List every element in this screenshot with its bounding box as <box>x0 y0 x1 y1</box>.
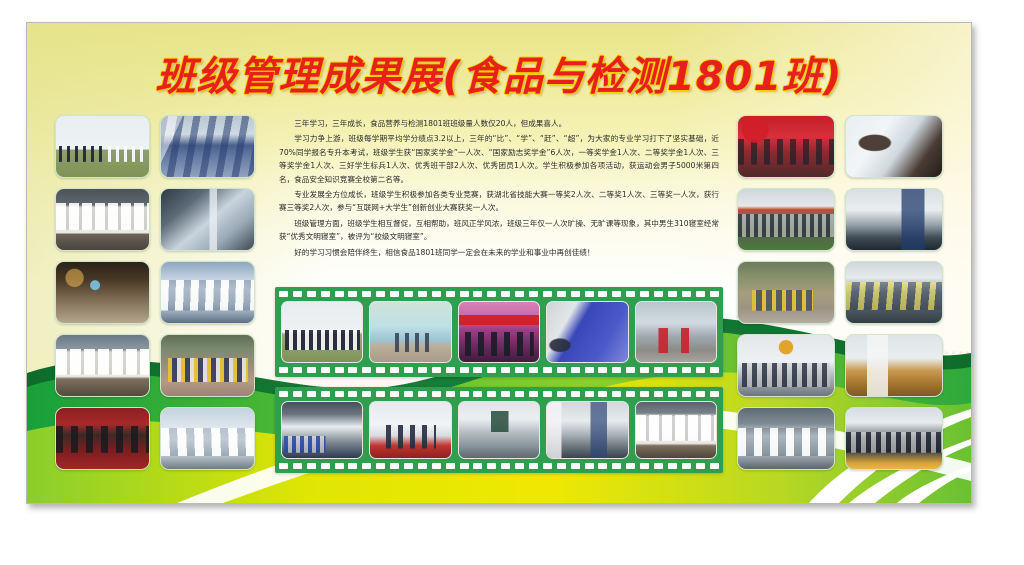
sprocket-hole <box>376 291 385 297</box>
sprocket-hole <box>335 463 344 469</box>
sprocket-hole <box>487 291 496 297</box>
sprocket-hole <box>515 391 524 397</box>
photo-row <box>737 261 943 324</box>
sprocket-hole <box>460 291 469 297</box>
paragraph: 三年学习，三年成长，食品营养与检测1801班班级量人数仅20人，但成果喜人。 <box>279 117 719 130</box>
sprocket-hole <box>404 463 413 469</box>
sprocket-hole <box>307 291 316 297</box>
sprocket-hole <box>362 463 371 469</box>
sprocket-hole <box>487 367 496 373</box>
photo-row <box>55 334 255 397</box>
sprocket-hole <box>668 463 677 469</box>
sprocket-hole <box>640 367 649 373</box>
sprocket-hole <box>640 391 649 397</box>
sprocket-hole <box>279 367 288 373</box>
sprocket-hole <box>598 391 607 397</box>
right-photo-grid <box>737 115 943 470</box>
photo-ft-1[interactable] <box>281 301 363 363</box>
photo-row <box>55 261 255 324</box>
sprocket-hole <box>293 391 302 397</box>
sprocket-hole <box>710 463 719 469</box>
sprocket-hole <box>585 291 594 297</box>
sprocket-hole <box>501 367 510 373</box>
photo-rp-7[interactable] <box>737 334 835 397</box>
left-photo-grid <box>55 115 255 470</box>
photo-lp-9[interactable] <box>55 407 150 470</box>
sprocket-hole <box>585 463 594 469</box>
sprocket-hole <box>571 463 580 469</box>
sprocket-hole <box>279 463 288 469</box>
sprocket-holes-bottom <box>279 367 719 373</box>
photo-lp-3[interactable] <box>55 188 150 251</box>
sprocket-hole <box>612 391 621 397</box>
sprocket-hole <box>626 367 635 373</box>
sprocket-hole <box>668 391 677 397</box>
sprocket-hole <box>418 367 427 373</box>
sprocket-hole <box>432 367 441 373</box>
page-title: 班级管理成果展(食品与检测1801班) <box>27 53 971 101</box>
photo-lp-7[interactable] <box>55 334 150 397</box>
photo-row <box>737 334 943 397</box>
sprocket-hole <box>460 367 469 373</box>
sprocket-hole <box>473 391 482 397</box>
sprocket-hole <box>376 391 385 397</box>
photo-rp-2[interactable] <box>845 115 943 178</box>
sprocket-hole <box>710 291 719 297</box>
sprocket-hole <box>543 291 552 297</box>
sprocket-hole <box>460 463 469 469</box>
photo-rp-3[interactable] <box>737 188 835 251</box>
sprocket-hole <box>321 367 330 373</box>
sprocket-hole <box>293 463 302 469</box>
sprocket-hole <box>418 463 427 469</box>
photo-lp-4[interactable] <box>160 188 255 251</box>
sprocket-hole <box>473 367 482 373</box>
sprocket-hole <box>321 291 330 297</box>
sprocket-hole <box>487 463 496 469</box>
sprocket-hole <box>348 291 357 297</box>
filmstrip-top <box>275 287 723 377</box>
sprocket-hole <box>404 291 413 297</box>
sprocket-hole <box>598 291 607 297</box>
sprocket-hole <box>598 463 607 469</box>
sprocket-hole <box>710 367 719 373</box>
sprocket-hole <box>585 367 594 373</box>
sprocket-hole <box>446 391 455 397</box>
photo-ft-4[interactable] <box>546 301 628 363</box>
photo-rp-8[interactable] <box>845 334 943 397</box>
photo-row <box>55 188 255 251</box>
sprocket-hole <box>529 463 538 469</box>
photo-ft-5[interactable] <box>635 301 717 363</box>
photo-lp-1[interactable] <box>55 115 150 178</box>
sprocket-hole <box>404 391 413 397</box>
sprocket-hole <box>543 391 552 397</box>
sprocket-hole <box>571 291 580 297</box>
photo-rp-9[interactable] <box>737 407 835 470</box>
sprocket-hole <box>390 391 399 397</box>
sprocket-hole <box>626 391 635 397</box>
sprocket-hole <box>585 391 594 397</box>
sprocket-hole <box>348 391 357 397</box>
photo-rp-5[interactable] <box>737 261 835 324</box>
sprocket-hole <box>696 391 705 397</box>
sprocket-hole <box>696 463 705 469</box>
photo-lp-5[interactable] <box>55 261 150 324</box>
sprocket-hole <box>446 367 455 373</box>
sprocket-hole <box>682 463 691 469</box>
sprocket-hole <box>432 291 441 297</box>
photo-rp-1[interactable] <box>737 115 835 178</box>
sprocket-hole <box>390 367 399 373</box>
sprocket-hole <box>418 391 427 397</box>
sprocket-hole <box>376 463 385 469</box>
sprocket-hole <box>307 367 316 373</box>
photo-fb-3[interactable] <box>458 401 540 459</box>
sprocket-hole <box>335 391 344 397</box>
sprocket-hole <box>348 367 357 373</box>
sprocket-hole <box>543 367 552 373</box>
photo-fb-2[interactable] <box>369 401 451 459</box>
sprocket-hole <box>710 391 719 397</box>
sprocket-hole <box>557 291 566 297</box>
paragraph: 班级管理方面，班级学生相互督促，互相帮助，班风正学风浓，班级三年仅一人次旷操、无… <box>279 217 719 244</box>
sprocket-hole <box>612 291 621 297</box>
paragraph: 专业发展全方位成长，班级学生积极参加各类专业竞赛，获湖北省技能大赛一等奖2人次、… <box>279 188 719 215</box>
sprocket-hole <box>279 291 288 297</box>
photo-lp-10[interactable] <box>160 407 255 470</box>
sprocket-hole <box>571 367 580 373</box>
photo-ft-3[interactable] <box>458 301 540 363</box>
sprocket-hole <box>335 367 344 373</box>
sprocket-hole <box>529 367 538 373</box>
photo-fb-4[interactable] <box>546 401 628 459</box>
sprocket-holes-top <box>279 391 719 397</box>
sprocket-hole <box>446 463 455 469</box>
sprocket-hole <box>654 391 663 397</box>
photo-lp-6[interactable] <box>160 261 255 324</box>
sprocket-hole <box>446 291 455 297</box>
photo-row <box>737 188 943 251</box>
sprocket-hole <box>432 391 441 397</box>
sprocket-hole <box>515 367 524 373</box>
sprocket-hole <box>335 291 344 297</box>
photo-rp-6[interactable] <box>845 261 943 324</box>
sprocket-hole <box>362 367 371 373</box>
photo-fb-5[interactable] <box>635 401 717 459</box>
sprocket-hole <box>612 463 621 469</box>
sprocket-hole <box>557 391 566 397</box>
sprocket-hole <box>515 463 524 469</box>
sprocket-hole <box>362 291 371 297</box>
sprocket-hole <box>626 463 635 469</box>
sprocket-hole <box>654 291 663 297</box>
filmstrip-bottom <box>275 387 723 473</box>
sprocket-hole <box>501 463 510 469</box>
sprocket-hole <box>362 391 371 397</box>
photo-lp-8[interactable] <box>160 334 255 397</box>
sprocket-hole <box>612 367 621 373</box>
sprocket-hole <box>473 463 482 469</box>
sprocket-hole <box>626 291 635 297</box>
sprocket-hole <box>487 391 496 397</box>
sprocket-hole <box>682 367 691 373</box>
sprocket-hole <box>696 367 705 373</box>
sprocket-hole <box>404 367 413 373</box>
sprocket-hole <box>501 291 510 297</box>
sprocket-hole <box>418 291 427 297</box>
paragraph: 学习力争上游，班级每学期平均学分绩点3.2以上，三年的“比”、“学”、“赶”、“… <box>279 132 719 186</box>
sprocket-hole <box>501 391 510 397</box>
sprocket-hole <box>640 291 649 297</box>
photo-row <box>737 115 943 178</box>
exhibition-board: 班级管理成果展(食品与检测1801班) <box>26 22 972 504</box>
photo-ft-2[interactable] <box>369 301 451 363</box>
paragraph: 好的学习习惯会陪伴终生，相信食品1801班同学一定会在未来的学业和事业中再创佳绩… <box>279 246 719 259</box>
sprocket-hole <box>321 463 330 469</box>
sprocket-hole <box>473 291 482 297</box>
sprocket-hole <box>293 291 302 297</box>
sprocket-hole <box>460 391 469 397</box>
sprocket-hole <box>348 463 357 469</box>
sprocket-hole <box>279 391 288 397</box>
sprocket-hole <box>307 391 316 397</box>
sprocket-hole <box>390 463 399 469</box>
sprocket-hole <box>557 367 566 373</box>
photo-fb-1[interactable] <box>281 401 363 459</box>
sprocket-hole <box>571 391 580 397</box>
photo-row <box>55 407 255 470</box>
photo-rp-10[interactable] <box>845 407 943 470</box>
sprocket-hole <box>654 463 663 469</box>
sprocket-hole <box>293 367 302 373</box>
sprocket-holes-bottom <box>279 463 719 469</box>
sprocket-hole <box>321 391 330 397</box>
sprocket-hole <box>557 463 566 469</box>
sprocket-hole <box>668 291 677 297</box>
description-text: 三年学习，三年成长，食品营养与检测1801班班级量人数仅20人，但成果喜人。 学… <box>279 117 719 261</box>
photo-lp-2[interactable] <box>160 115 255 178</box>
sprocket-hole <box>432 463 441 469</box>
sprocket-holes-top <box>279 291 719 297</box>
sprocket-hole <box>682 291 691 297</box>
sprocket-hole <box>390 291 399 297</box>
photo-rp-4[interactable] <box>845 188 943 251</box>
photo-row <box>55 115 255 178</box>
sprocket-hole <box>543 463 552 469</box>
photo-row <box>737 407 943 470</box>
sprocket-hole <box>696 291 705 297</box>
sprocket-hole <box>307 463 316 469</box>
sprocket-hole <box>654 367 663 373</box>
sprocket-hole <box>682 391 691 397</box>
sprocket-hole <box>376 367 385 373</box>
sprocket-hole <box>529 291 538 297</box>
sprocket-hole <box>529 391 538 397</box>
sprocket-hole <box>515 291 524 297</box>
sprocket-hole <box>640 463 649 469</box>
sprocket-hole <box>668 367 677 373</box>
sprocket-hole <box>598 367 607 373</box>
